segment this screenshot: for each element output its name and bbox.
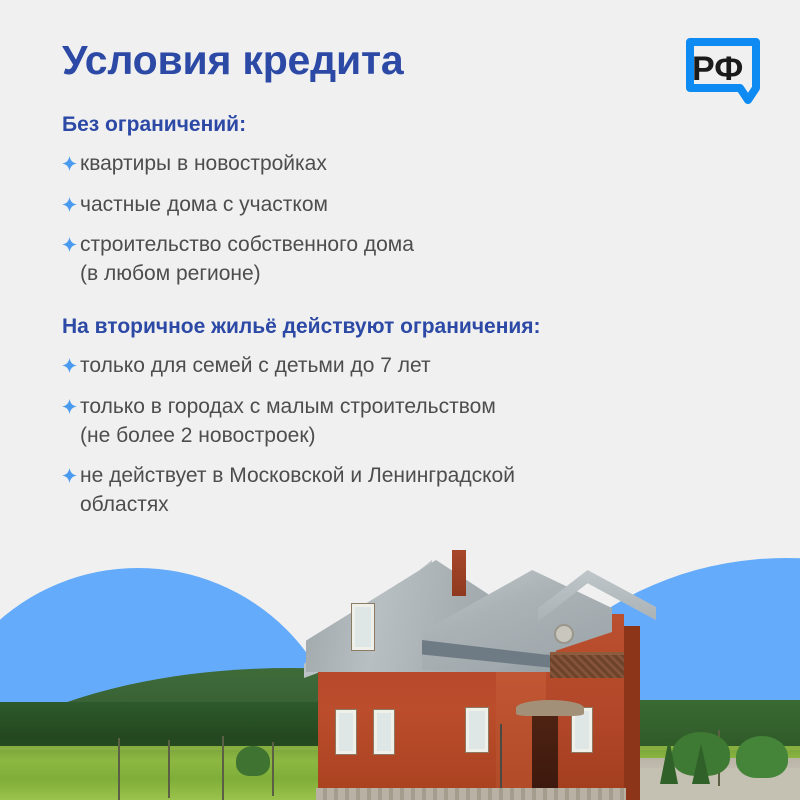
diamond-bullet-icon bbox=[62, 237, 77, 252]
fence-post bbox=[118, 738, 120, 800]
window bbox=[352, 604, 374, 650]
house-photograph bbox=[0, 550, 800, 800]
list-item: строительство собственного дома (в любом… bbox=[62, 231, 752, 288]
balcony-railing bbox=[550, 652, 624, 678]
section-no-restrictions: Без ограничений: квартиры в новостройках bbox=[62, 112, 752, 288]
bullet-list: только для семей с детьми до 7 лет тольк… bbox=[62, 352, 752, 519]
page-title: Условия кредита bbox=[62, 38, 752, 84]
stone-foundation bbox=[316, 788, 626, 800]
list-item-label: только для семей с детьми до 7 лет bbox=[80, 352, 431, 381]
fence-post bbox=[272, 742, 274, 796]
list-item-label: частные дома с участком bbox=[80, 191, 328, 220]
list-item: только в городах с малым строительством … bbox=[62, 393, 752, 450]
content-column: Условия кредита Без ограничений: квартир… bbox=[62, 38, 752, 523]
list-item-label: не действует в Московской и Ленинградско… bbox=[80, 462, 515, 519]
fence-post bbox=[222, 736, 224, 800]
bullet-list: квартиры в новостройках частные дома с у… bbox=[62, 150, 752, 288]
window bbox=[374, 710, 394, 754]
shrub bbox=[236, 746, 270, 776]
diamond-bullet-icon bbox=[62, 468, 77, 483]
door-canopy bbox=[516, 700, 584, 716]
list-item: квартиры в новостройках bbox=[62, 150, 752, 179]
section-heading: Без ограничений: bbox=[62, 112, 752, 137]
diamond-bullet-icon bbox=[62, 156, 77, 171]
infographic-poster: РФ Условия кредита Без ограничений: квар… bbox=[0, 0, 800, 800]
section-heading: На вторичное жильё действуют ограничения… bbox=[62, 314, 752, 339]
list-item-label: только в городах с малым строительством … bbox=[80, 393, 496, 450]
diamond-bullet-icon bbox=[62, 399, 77, 414]
brick-house bbox=[300, 552, 660, 800]
list-item: только для семей с детьми до 7 лет bbox=[62, 352, 752, 381]
fence-post bbox=[168, 740, 170, 798]
diamond-bullet-icon bbox=[62, 358, 77, 373]
window bbox=[336, 710, 356, 754]
conifer-tree bbox=[692, 744, 710, 784]
list-item: частные дома с участком bbox=[62, 191, 752, 220]
section-secondary-housing: На вторичное жильё действуют ограничения… bbox=[62, 314, 752, 519]
tower-side-wall bbox=[624, 626, 640, 800]
conifer-tree bbox=[660, 738, 678, 784]
list-item-label: строительство собственного дома (в любом… bbox=[80, 231, 414, 288]
diamond-bullet-icon bbox=[62, 197, 77, 212]
chimney bbox=[452, 550, 466, 596]
list-item-label: квартиры в новостройках bbox=[80, 150, 327, 179]
satellite-dish-icon bbox=[554, 624, 574, 644]
window bbox=[466, 708, 488, 752]
shrub bbox=[736, 736, 788, 778]
list-item: не действует в Московской и Ленинградско… bbox=[62, 462, 752, 519]
